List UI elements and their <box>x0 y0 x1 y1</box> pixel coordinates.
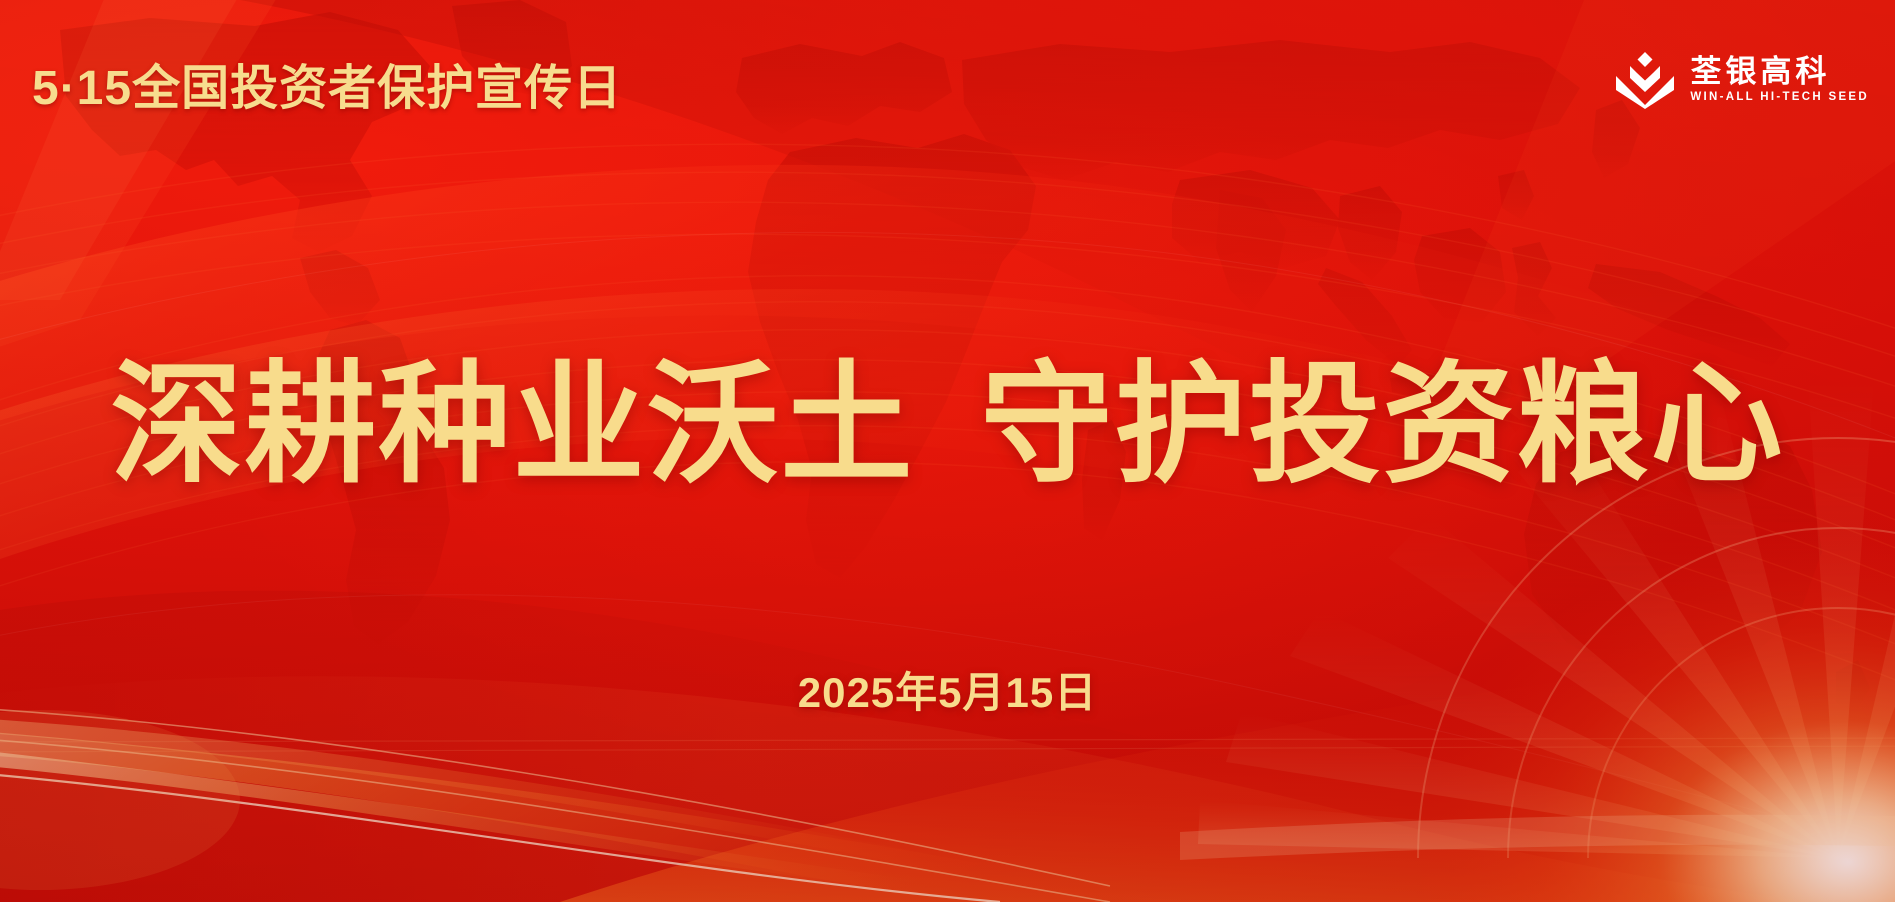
campaign-headline: 5·15全国投资者保护宣传日 <box>32 48 622 118</box>
logo-name-cn: 荃银高科 <box>1690 56 1869 89</box>
logo-wordmark: 荃银高科 WIN-ALL HI-TECH SEED <box>1690 56 1869 103</box>
slogan-phrase-1: 深耕种业沃土 <box>111 351 915 498</box>
event-date: 2025年5月15日 <box>0 659 1895 720</box>
chevron-sprout-icon <box>1614 50 1676 110</box>
investor-protection-banner: 5·15全国投资者保护宣传日 荃银高科 WIN-ALL HI-TECH SEED… <box>0 0 1895 902</box>
company-logo[interactable]: 荃银高科 WIN-ALL HI-TECH SEED <box>1614 50 1869 110</box>
main-slogan: 深耕种业沃土守护投资粮心 <box>0 352 1895 497</box>
slogan-phrase-2: 守护投资粮心 <box>981 351 1785 498</box>
logo-name-en: WIN-ALL HI-TECH SEED <box>1690 92 1869 104</box>
